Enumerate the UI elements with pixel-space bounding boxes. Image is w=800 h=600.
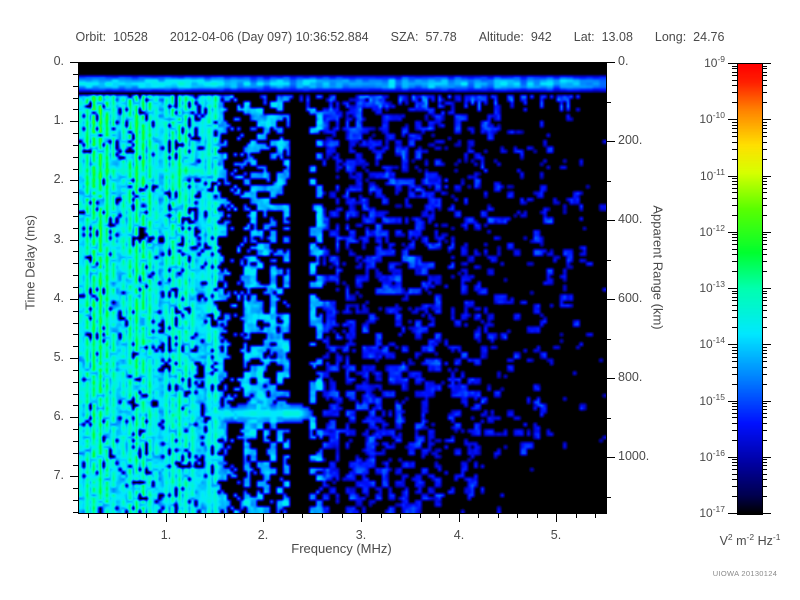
colorbar-major-tick (728, 401, 737, 402)
colorbar-minor-tick (732, 198, 737, 199)
colorbar-minor-tick (762, 417, 767, 418)
y-right-tick (606, 181, 611, 182)
x-tick (302, 513, 303, 518)
colorbar-minor-tick (732, 75, 737, 76)
colorbar-major-tick (728, 288, 737, 289)
colorbar-minor-tick (732, 122, 737, 123)
colorbar-minor-tick (732, 297, 737, 298)
y-axis-right-title: Apparent Range (km) (651, 198, 666, 338)
orbit-value: 10528 (113, 30, 148, 44)
colorbar-minor-tick (732, 237, 737, 238)
colorbar-minor-tick (732, 215, 737, 216)
y-left-tick (73, 109, 78, 110)
colorbar-minor-tick (732, 406, 737, 407)
colorbar-minor-tick (732, 234, 737, 235)
colorbar-minor-tick (732, 92, 737, 93)
y-left-tick-label: 3. (12, 232, 64, 246)
y-left-tick (73, 488, 78, 489)
y-right-tick-label: 0. (618, 54, 678, 68)
colorbar-minor-tick (732, 361, 737, 362)
colorbar-minor-tick (732, 367, 737, 368)
colorbar-minor-tick (762, 293, 767, 294)
orbit-label: Orbit: (76, 30, 107, 44)
colorbar-minor-tick (732, 413, 737, 414)
y-left-tick (73, 370, 78, 371)
x-tick (107, 513, 108, 518)
y-left-tick (73, 145, 78, 146)
y-right-tick-label: 800. (618, 370, 678, 384)
colorbar-minor-tick (732, 350, 737, 351)
y-right-tick (606, 141, 615, 142)
colorbar-minor-tick (762, 132, 767, 133)
y-left-tick (73, 346, 78, 347)
colorbar-minor-tick (762, 75, 767, 76)
x-tick (361, 513, 362, 522)
colorbar-major-tick (728, 119, 737, 120)
colorbar-minor-tick (732, 85, 737, 86)
colorbar-major-tick (762, 401, 771, 402)
colorbar-minor-tick (732, 291, 737, 292)
colorbar-minor-tick (762, 240, 767, 241)
colorbar-tick-label: 10-14 (671, 335, 725, 351)
colorbar-minor-tick (732, 184, 737, 185)
colorbar-minor-tick (732, 181, 737, 182)
colorbar-minor-tick (732, 249, 737, 250)
colorbar-minor-tick (732, 430, 737, 431)
latitude-label: Lat: (574, 30, 595, 44)
colorbar-major-tick (762, 344, 771, 345)
colorbar-minor-tick (732, 423, 737, 424)
colorbar-minor-tick (762, 406, 767, 407)
y-right-tick (606, 62, 615, 63)
colorbar-minor-tick (732, 72, 737, 73)
y-left-tick (70, 417, 78, 418)
x-tick (556, 513, 557, 522)
colorbar-gradient (738, 64, 762, 514)
y-right-tick (606, 339, 611, 340)
y-right-tick (606, 457, 615, 458)
colorbar-minor-tick (762, 310, 767, 311)
y-left-tick (73, 98, 78, 99)
x-tick (263, 513, 264, 522)
colorbar-major-tick (762, 119, 771, 120)
colorbar-minor-tick (762, 128, 767, 129)
colorbar-minor-tick (762, 291, 767, 292)
colorbar-minor-tick (762, 142, 767, 143)
y-left-tick (73, 311, 78, 312)
colorbar-minor-tick (762, 261, 767, 262)
colorbar-minor-tick (762, 125, 767, 126)
colorbar-minor-tick (732, 136, 737, 137)
x-tick (498, 513, 499, 518)
x-tick (127, 513, 128, 518)
y-right-tick (606, 497, 611, 498)
x-tick (381, 513, 382, 518)
longitude-value: 24.76 (693, 30, 724, 44)
colorbar-minor-tick (762, 181, 767, 182)
colorbar-minor-tick (762, 465, 767, 466)
x-tick (517, 513, 518, 518)
y-left-tick (73, 500, 78, 501)
colorbar-minor-tick (762, 122, 767, 123)
x-tick (478, 513, 479, 518)
colorbar-minor-tick (732, 474, 737, 475)
colorbar-minor-tick (762, 215, 767, 216)
colorbar-minor-tick (732, 317, 737, 318)
colorbar-minor-tick (762, 244, 767, 245)
colorbar-minor-tick (732, 409, 737, 410)
colorbar-minor-tick (762, 66, 767, 67)
colorbar-minor-tick (762, 459, 767, 460)
x-tick-label: 2. (233, 528, 293, 542)
y-left-tick (73, 204, 78, 205)
colorbar-minor-tick (732, 305, 737, 306)
y-right-tick (606, 418, 611, 419)
y-right-tick (606, 299, 615, 300)
y-left-tick (70, 121, 78, 122)
x-tick (224, 513, 225, 518)
colorbar-minor-tick (762, 184, 767, 185)
y-left-tick (70, 476, 78, 477)
latitude-value: 13.08 (602, 30, 633, 44)
x-tick (459, 513, 460, 522)
colorbar-minor-tick (762, 254, 767, 255)
y-left-tick (70, 240, 78, 241)
colorbar-tick-label: 10-17 (671, 504, 725, 520)
x-tick (205, 513, 206, 518)
y-left-tick (73, 74, 78, 75)
colorbar-minor-tick (732, 178, 737, 179)
orbit-field: Orbit:10528 (76, 30, 148, 44)
colorbar-minor-tick (762, 486, 767, 487)
y-left-tick (73, 216, 78, 217)
y-right-tick (606, 260, 611, 261)
y-left-tick (73, 429, 78, 430)
colorbar-tick-label: 10-12 (671, 223, 725, 239)
colorbar-minor-tick (732, 192, 737, 193)
x-axis-title: Frequency (MHz) (78, 541, 605, 556)
y-right-tick-label: 1000. (618, 449, 678, 463)
x-tick (185, 513, 186, 518)
y-right-tick-label: 200. (618, 133, 678, 147)
colorbar-tick-label: 10-10 (671, 110, 725, 126)
y-left-tick (70, 299, 78, 300)
colorbar-minor-tick (732, 244, 737, 245)
colorbar-minor-tick (762, 234, 767, 235)
y-left-tick (70, 180, 78, 181)
colorbar-minor-tick (762, 149, 767, 150)
longitude-field: Long:24.76 (655, 30, 725, 44)
x-tick (88, 513, 89, 518)
y-left-tick (73, 394, 78, 395)
x-tick (322, 513, 323, 518)
y-left-tick (73, 228, 78, 229)
colorbar-minor-tick (762, 178, 767, 179)
colorbar-minor-tick (762, 413, 767, 414)
x-tick-label: 5. (526, 528, 586, 542)
colorbar-minor-tick (732, 102, 737, 103)
y-left-tick (73, 405, 78, 406)
colorbar-minor-tick (732, 261, 737, 262)
colorbar-minor-tick (762, 374, 767, 375)
colorbar-minor-tick (762, 469, 767, 470)
y-left-tick-label: 0. (12, 54, 64, 68)
spectrogram-heatmap (79, 63, 606, 513)
colorbar-minor-tick (762, 361, 767, 362)
sza-value: 57.78 (425, 30, 456, 44)
colorbar-minor-tick (762, 271, 767, 272)
institution-credit: UIOWA 20130124 (690, 569, 800, 578)
y-left-tick (73, 287, 78, 288)
colorbar-minor-tick (762, 102, 767, 103)
colorbar-minor-tick (762, 237, 767, 238)
colorbar-minor-tick (762, 350, 767, 351)
colorbar-minor-tick (732, 68, 737, 69)
colorbar-minor-tick (732, 149, 737, 150)
colorbar-minor-tick (762, 430, 767, 431)
x-tick-label: 4. (429, 528, 489, 542)
y-axis-left-title: Time Delay (ms) (23, 193, 38, 333)
colorbar-minor-tick (732, 384, 737, 385)
colorbar-major-tick (728, 344, 737, 345)
y-right-tick-label: 400. (618, 212, 678, 226)
colorbar-minor-tick (762, 188, 767, 189)
colorbar-minor-tick (732, 293, 737, 294)
latitude-field: Lat:13.08 (574, 30, 633, 44)
y-left-tick (73, 157, 78, 158)
colorbar-minor-tick (732, 271, 737, 272)
colorbar-minor-tick (732, 132, 737, 133)
colorbar-minor-tick (732, 300, 737, 301)
colorbar-minor-tick (732, 80, 737, 81)
colorbar-minor-tick (762, 496, 767, 497)
colorbar-minor-tick (762, 347, 767, 348)
x-tick (283, 513, 284, 518)
x-tick-label: 3. (331, 528, 391, 542)
colorbar-minor-tick (732, 188, 737, 189)
x-tick (439, 513, 440, 518)
y-left-tick-label: 5. (12, 350, 64, 364)
colorbar-minor-tick (762, 297, 767, 298)
colorbar-minor-tick (762, 462, 767, 463)
y-left-tick (73, 512, 78, 513)
colorbar-minor-tick (762, 85, 767, 86)
colorbar-minor-tick (762, 423, 767, 424)
y-left-tick (73, 251, 78, 252)
colorbar-minor-tick (732, 465, 737, 466)
colorbar-major-tick (762, 232, 771, 233)
x-tick (576, 513, 577, 518)
y-left-tick (73, 275, 78, 276)
colorbar-minor-tick (762, 92, 767, 93)
y-left-tick (73, 323, 78, 324)
colorbar-tick-label: 10-9 (671, 54, 725, 70)
colorbar-minor-tick (732, 469, 737, 470)
y-left-tick (73, 334, 78, 335)
colorbar-minor-tick (732, 142, 737, 143)
colorbar-major-tick (728, 513, 737, 514)
colorbar-minor-tick (762, 205, 767, 206)
y-left-tick-label: 4. (12, 291, 64, 305)
ionogram-header: Orbit:105282012-04-06 (Day 097) 10:36:52… (0, 30, 800, 44)
colorbar-major-tick (728, 176, 737, 177)
colorbar-minor-tick (732, 403, 737, 404)
x-tick (342, 513, 343, 518)
colorbar-minor-tick (762, 68, 767, 69)
colorbar-units-label: V2 m-2 Hz-1 (690, 532, 800, 548)
colorbar-minor-tick (762, 80, 767, 81)
y-left-tick (73, 169, 78, 170)
y-left-tick-label: 1. (12, 113, 64, 127)
longitude-label: Long: (655, 30, 686, 44)
y-right-tick (606, 220, 615, 221)
colorbar-major-tick (728, 457, 737, 458)
colorbar-minor-tick (762, 409, 767, 410)
x-tick (166, 513, 167, 522)
colorbar-minor-tick (762, 72, 767, 73)
x-tick-label: 1. (136, 528, 196, 542)
colorbar-major-tick (762, 63, 771, 64)
colorbar-minor-tick (732, 205, 737, 206)
colorbar-minor-tick (732, 353, 737, 354)
x-tick (400, 513, 401, 518)
ionogram-plot-area (78, 62, 607, 514)
observation-datetime: 2012-04-06 (Day 097) 10:36:52.884 (170, 30, 369, 44)
colorbar-minor-tick (762, 136, 767, 137)
colorbar-minor-tick (732, 479, 737, 480)
colorbar-minor-tick (732, 66, 737, 67)
y-left-tick (73, 133, 78, 134)
y-left-tick (73, 453, 78, 454)
x-tick (146, 513, 147, 518)
colorbar-minor-tick (732, 159, 737, 160)
y-right-tick (606, 102, 611, 103)
colorbar-major-tick (762, 176, 771, 177)
y-left-tick (73, 441, 78, 442)
colorbar-minor-tick (762, 305, 767, 306)
colorbar-tick-label: 10-11 (671, 167, 725, 183)
altitude-value: 942 (531, 30, 552, 44)
x-tick (537, 513, 538, 518)
y-right-tick-label: 600. (618, 291, 678, 305)
colorbar-minor-tick (762, 159, 767, 160)
colorbar-minor-tick (732, 125, 737, 126)
colorbar-minor-tick (762, 440, 767, 441)
colorbar (737, 63, 763, 515)
colorbar-minor-tick (732, 357, 737, 358)
y-left-tick (73, 382, 78, 383)
colorbar-minor-tick (762, 479, 767, 480)
y-left-tick (73, 465, 78, 466)
colorbar-major-tick (762, 288, 771, 289)
colorbar-minor-tick (732, 240, 737, 241)
colorbar-minor-tick (732, 462, 737, 463)
colorbar-minor-tick (762, 384, 767, 385)
y-left-tick-label: 2. (12, 172, 64, 186)
x-tick (595, 513, 596, 518)
colorbar-minor-tick (762, 353, 767, 354)
x-tick (244, 513, 245, 518)
colorbar-minor-tick (762, 403, 767, 404)
colorbar-minor-tick (762, 300, 767, 301)
colorbar-minor-tick (762, 317, 767, 318)
colorbar-minor-tick (732, 459, 737, 460)
colorbar-minor-tick (732, 327, 737, 328)
colorbar-minor-tick (762, 474, 767, 475)
colorbar-minor-tick (732, 440, 737, 441)
colorbar-minor-tick (732, 347, 737, 348)
colorbar-minor-tick (732, 254, 737, 255)
colorbar-minor-tick (732, 486, 737, 487)
y-left-tick (70, 62, 78, 63)
colorbar-minor-tick (732, 417, 737, 418)
colorbar-minor-tick (762, 249, 767, 250)
colorbar-minor-tick (732, 128, 737, 129)
colorbar-major-tick (762, 513, 771, 514)
colorbar-minor-tick (732, 374, 737, 375)
altitude-field: Altitude:942 (479, 30, 552, 44)
sza-label: SZA: (391, 30, 419, 44)
colorbar-tick-label: 10-15 (671, 392, 725, 408)
colorbar-minor-tick (762, 357, 767, 358)
colorbar-major-tick (728, 232, 737, 233)
y-left-tick (73, 86, 78, 87)
colorbar-minor-tick (762, 327, 767, 328)
colorbar-minor-tick (732, 310, 737, 311)
y-left-tick (70, 358, 78, 359)
colorbar-minor-tick (732, 496, 737, 497)
colorbar-minor-tick (762, 198, 767, 199)
y-right-tick (606, 378, 615, 379)
colorbar-major-tick (762, 457, 771, 458)
y-left-tick-label: 7. (12, 468, 64, 482)
colorbar-minor-tick (762, 192, 767, 193)
y-left-tick-label: 6. (12, 409, 64, 423)
x-tick (420, 513, 421, 518)
colorbar-tick-label: 10-13 (671, 279, 725, 295)
y-left-tick (73, 263, 78, 264)
colorbar-minor-tick (762, 367, 767, 368)
altitude-label: Altitude: (479, 30, 524, 44)
colorbar-major-tick (728, 63, 737, 64)
sza-field: SZA:57.78 (391, 30, 457, 44)
colorbar-tick-label: 10-16 (671, 448, 725, 464)
y-left-tick (73, 192, 78, 193)
